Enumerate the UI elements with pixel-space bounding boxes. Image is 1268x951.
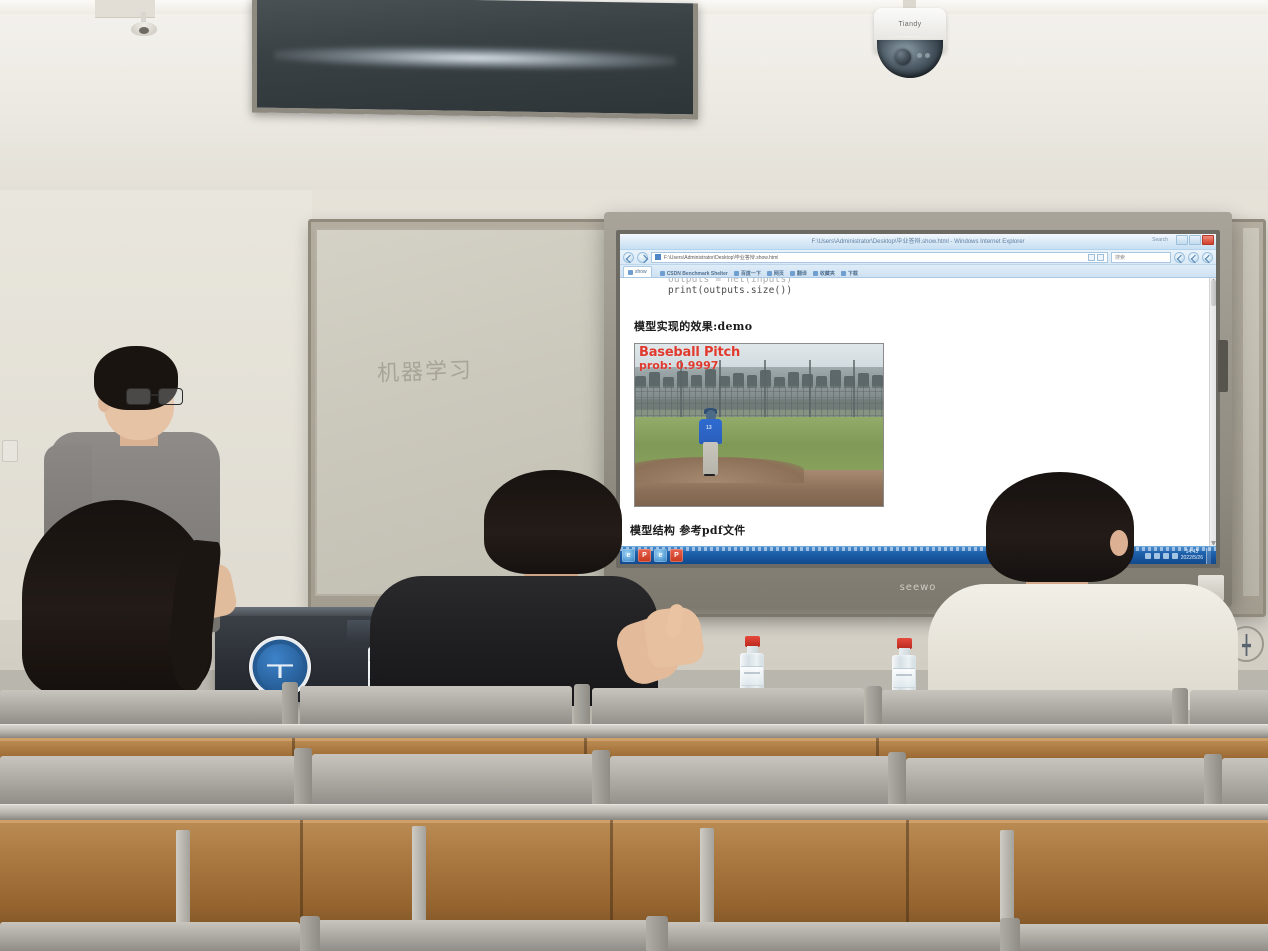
- bookmark-item[interactable]: CSDN Benchmark Shelter: [660, 271, 728, 277]
- camera-brand-label: Tiandy: [874, 21, 946, 28]
- bookmark-icon: [790, 271, 795, 276]
- browser-navbar[interactable]: F:\Users\Administrator\Desktop\毕业答辩.show…: [620, 250, 1216, 265]
- gear-icon[interactable]: [1202, 252, 1213, 263]
- video-class-label: Baseball Pitch: [639, 346, 740, 360]
- page-favicon-icon: [655, 254, 661, 260]
- student-right-person: [928, 472, 1240, 704]
- student-right-ear: [1110, 530, 1128, 556]
- bookmark-icon: [767, 271, 772, 276]
- display-side-ports[interactable]: [1218, 340, 1228, 392]
- refresh-icon[interactable]: [1088, 254, 1095, 261]
- camera-ir-led-icon: [917, 53, 922, 58]
- desk-leg: [700, 828, 714, 928]
- video-pitcher: 13: [699, 410, 721, 478]
- video-prediction-overlay: Baseball Pitch prob: 0.9997: [639, 346, 740, 371]
- browser-titlebar[interactable]: F:\Users\Administrator\Desktop\毕业答辩.show…: [620, 234, 1216, 250]
- seat-back: [0, 756, 296, 806]
- bookmark-icon: [841, 271, 846, 276]
- bookmark-icon: [813, 271, 818, 276]
- video-prob-label: prob: 0.9997: [639, 360, 740, 372]
- ceiling-light-panel: [252, 0, 698, 120]
- taskbar-app-powerpoint[interactable]: P: [670, 549, 683, 562]
- address-bar-actions[interactable]: [1088, 254, 1104, 261]
- home-icon[interactable]: [1174, 252, 1185, 263]
- desk-leg: [1000, 830, 1014, 928]
- bookmark-item[interactable]: 下载: [841, 270, 858, 277]
- address-bar-value: F:\Users\Administrator\Desktop\毕业答辩.show…: [664, 254, 778, 261]
- jersey-number: 13: [706, 425, 712, 431]
- bookmark-item[interactable]: 收藏夹: [813, 270, 835, 277]
- address-bar[interactable]: F:\Users\Administrator\Desktop\毕业答辩.show…: [651, 252, 1108, 263]
- wall-switch[interactable]: [2, 440, 18, 462]
- forward-arrow-icon[interactable]: [637, 252, 648, 263]
- light-glow: [274, 43, 675, 71]
- close-button[interactable]: [1202, 235, 1214, 245]
- slide-heading: 模型实现的效果:demo: [634, 318, 752, 334]
- search-input[interactable]: 搜索: [1111, 252, 1171, 263]
- window-controls[interactable]: [1176, 235, 1214, 245]
- bookmark-label: CSDN Benchmark Shelter: [667, 271, 728, 277]
- student-left-person: [22, 500, 232, 700]
- bottle-label: [741, 666, 763, 686]
- bookmark-label: 翻译: [797, 270, 807, 277]
- classroom-scene: Tiandy 机器学习 F:\Users\Administrator\Deskt…: [0, 0, 1268, 951]
- glasses-icon: [126, 388, 182, 405]
- board-right-strip: [1243, 228, 1259, 596]
- desk-leg: [176, 830, 190, 926]
- seat-back: [0, 690, 284, 726]
- maximize-button[interactable]: [1189, 235, 1201, 245]
- favorites-star-icon[interactable]: [1188, 252, 1199, 263]
- bookmark-icon: [734, 271, 739, 276]
- bookmarks-bar[interactable]: CSDN Benchmark Shelter 百度一下 网页 翻译 收藏夹 下载: [660, 270, 858, 277]
- student-center-hair: [484, 470, 622, 574]
- scrollbar-thumb[interactable]: [1211, 280, 1216, 306]
- bookmark-item[interactable]: 翻译: [790, 270, 807, 277]
- seat-back: [318, 920, 648, 951]
- browser-tab[interactable]: show: [623, 266, 652, 277]
- code-line: print(outputs.size()): [668, 285, 792, 296]
- bookmark-label: 下载: [848, 270, 858, 277]
- seat-divider: [300, 916, 320, 951]
- seat-divider: [646, 916, 668, 951]
- bookmark-item[interactable]: 网页: [767, 270, 784, 277]
- camera-ir-led-icon: [925, 53, 930, 58]
- seat-divider: [1000, 918, 1020, 951]
- demo-video[interactable]: 13 Baseball Pitch prob: 0.9997: [634, 343, 884, 507]
- browser-window-title: F:\Users\Administrator\Desktop\毕业答辩.show…: [811, 236, 1024, 245]
- seat-back: [300, 686, 572, 726]
- bottle-label: [893, 668, 915, 688]
- seat-back: [1018, 924, 1268, 951]
- bookmark-icon: [660, 271, 665, 276]
- minimize-button[interactable]: [1176, 235, 1188, 245]
- bookmark-label: 百度一下: [741, 270, 761, 277]
- tab-favicon-icon: [628, 270, 633, 275]
- browser-tabbar[interactable]: show CSDN Benchmark Shelter 百度一下 网页 翻译 收…: [620, 265, 1216, 278]
- browser-tab-label: show: [635, 267, 647, 278]
- stop-icon[interactable]: [1097, 254, 1104, 261]
- seat-back: [666, 922, 1002, 951]
- back-arrow-icon[interactable]: [623, 252, 634, 263]
- search-hint-label: Search: [1152, 237, 1168, 243]
- whiteboard-writing: 机器学习: [376, 352, 473, 387]
- student-right-hair: [986, 472, 1134, 582]
- bookmark-item[interactable]: 百度一下: [734, 270, 761, 277]
- bookmark-label: 收藏夹: [820, 270, 835, 277]
- desk-leg: [412, 826, 426, 926]
- seat-back: [312, 754, 594, 808]
- seat-back: [610, 756, 890, 810]
- student-center-person: [368, 470, 658, 702]
- seat-back: [0, 922, 300, 951]
- desk-surface: [0, 820, 1268, 932]
- smoke-detector-icon: [131, 22, 157, 36]
- seat-back: [592, 688, 864, 728]
- ceiling-duct: [95, 0, 155, 18]
- code-line-clipped: outputs = net(inputs): [668, 278, 792, 285]
- camera-lens-icon: [895, 49, 911, 65]
- bookmark-label: 网页: [774, 270, 784, 277]
